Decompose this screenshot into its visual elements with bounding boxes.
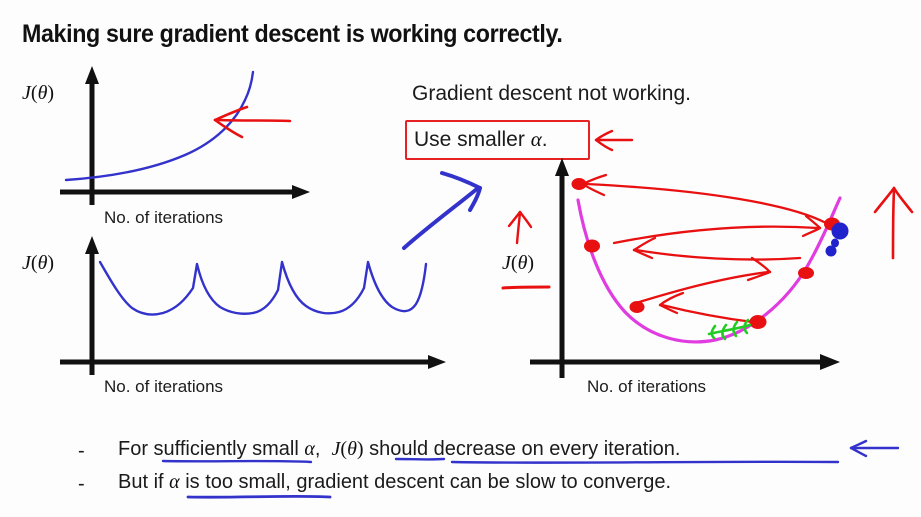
bullet-1-seg-for: For sufficiently small	[118, 438, 304, 460]
headline-gradient-descent-not-working: Gradient descent not working.	[412, 82, 691, 106]
bullet-1-seg-tail: should decrease on every iteration.	[364, 438, 681, 460]
blue-arrow-first-bullet	[851, 441, 898, 456]
bottom-left-cost-curve	[100, 262, 426, 315]
right-cost-bowl-curve	[578, 198, 840, 342]
advice-text-period: .	[542, 128, 548, 151]
bullet-1-seg-comma: ,	[315, 438, 332, 460]
top-left-axes	[60, 66, 310, 205]
top-left-cost-curve	[66, 72, 253, 180]
blue-pointer-arrow-to-box	[404, 173, 480, 248]
bullet-2-seg-tail: is too small, gradient descent can be sl…	[180, 471, 671, 493]
right-minimum-blue-dots	[826, 223, 848, 256]
advice-text-prefix: Use smaller	[414, 128, 531, 151]
alpha-symbol-advice: α	[531, 127, 542, 151]
right-y-axis-label: J(θ)	[502, 252, 534, 275]
alpha-symbol-bullet-1: α	[304, 438, 315, 460]
right-axes	[530, 158, 840, 378]
bullet-2-seg-butif: But if	[118, 471, 169, 493]
j-theta-bullet-1: J(θ)	[332, 438, 364, 460]
bullet-marker-2: -	[78, 473, 85, 496]
bottom-left-x-axis-label: No. of iterations	[104, 377, 223, 397]
right-divergence-zigzag	[583, 175, 824, 322]
right-green-squiggle	[709, 320, 750, 339]
bottom-left-y-axis-label: J(θ)	[22, 252, 54, 275]
red-up-arrow-j-theta	[503, 212, 549, 288]
bullet-marker-1: -	[78, 440, 85, 463]
bullet-text-2: But if α is too small, gradient descent …	[118, 471, 671, 494]
bottom-left-axes	[60, 236, 446, 375]
red-arrow-to-advice-box	[596, 131, 632, 150]
alpha-symbol-bullet-2: α	[169, 471, 180, 493]
page-title: Making sure gradient descent is working …	[22, 20, 562, 49]
advice-text: Use smaller α.	[414, 127, 548, 152]
top-left-x-axis-label: No. of iterations	[104, 208, 223, 228]
right-iterate-dots	[572, 179, 840, 329]
top-left-red-arrow	[215, 107, 290, 137]
top-left-y-axis-label: J(θ)	[22, 82, 54, 105]
red-up-arrow-right-margin	[875, 188, 912, 258]
bullet-text-1: For sufficiently small α, J(θ) should de…	[118, 438, 680, 461]
slide-canvas: Making sure gradient descent is working …	[0, 0, 921, 517]
right-x-axis-label: No. of iterations	[587, 377, 706, 397]
